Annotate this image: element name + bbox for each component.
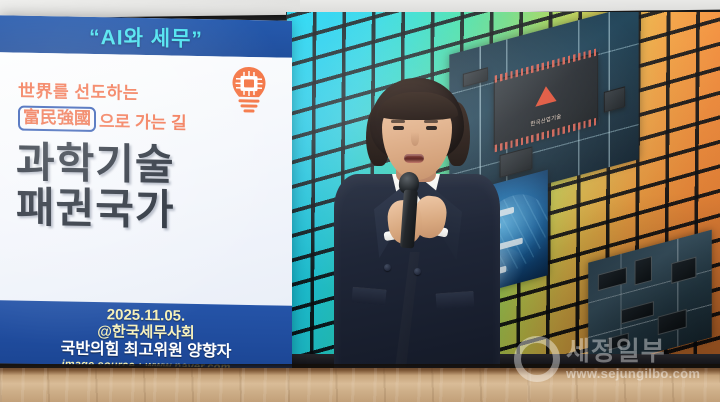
slide-subtitle-line1: 世界를 선도하는: [18, 77, 139, 104]
slide-body: 世界를 선도하는 富民強國 으로 가는 길 과학기술 패권국가: [0, 52, 292, 306]
floor-grain: [0, 368, 720, 402]
presentation-slide: “AI와 세무”: [0, 15, 292, 373]
slide-footer: 2025.11.05. @한국세무사회 국반의힘 최고위원 양향자 image …: [0, 300, 292, 373]
nose: [411, 132, 419, 146]
slide-subtitle-line2: 富民強國 으로 가는 길: [18, 106, 187, 134]
slide-subtitle-line2-rest: 으로 가는 길: [97, 107, 187, 134]
mouth: [404, 154, 424, 163]
lightbulb-cpu-icon: [228, 65, 270, 114]
eye-right: [426, 126, 437, 130]
speaker-figure: [318, 78, 514, 402]
eyebrow-left: [391, 120, 405, 123]
wood-floor: [0, 368, 720, 402]
screenshot-root: 한국산업기술 AI “AI와 세무”: [0, 0, 720, 402]
boxed-hanja-phrase: 富民強國: [18, 106, 96, 132]
slide-headline-line2: 패권국가: [16, 185, 278, 235]
eyebrow-right: [424, 120, 438, 123]
jacket-pocket-right: [435, 291, 474, 310]
slide-header: “AI와 세무”: [0, 15, 292, 58]
jacket-button: [414, 268, 421, 275]
eye-left: [393, 126, 404, 130]
slide-title: “AI와 세무”: [89, 20, 203, 52]
slide-headline-line1: 과학기술: [16, 141, 278, 191]
jacket-button: [384, 264, 391, 271]
jacket-pocket-left: [351, 287, 386, 306]
slide-headline: 과학기술 패권국가: [16, 141, 278, 236]
